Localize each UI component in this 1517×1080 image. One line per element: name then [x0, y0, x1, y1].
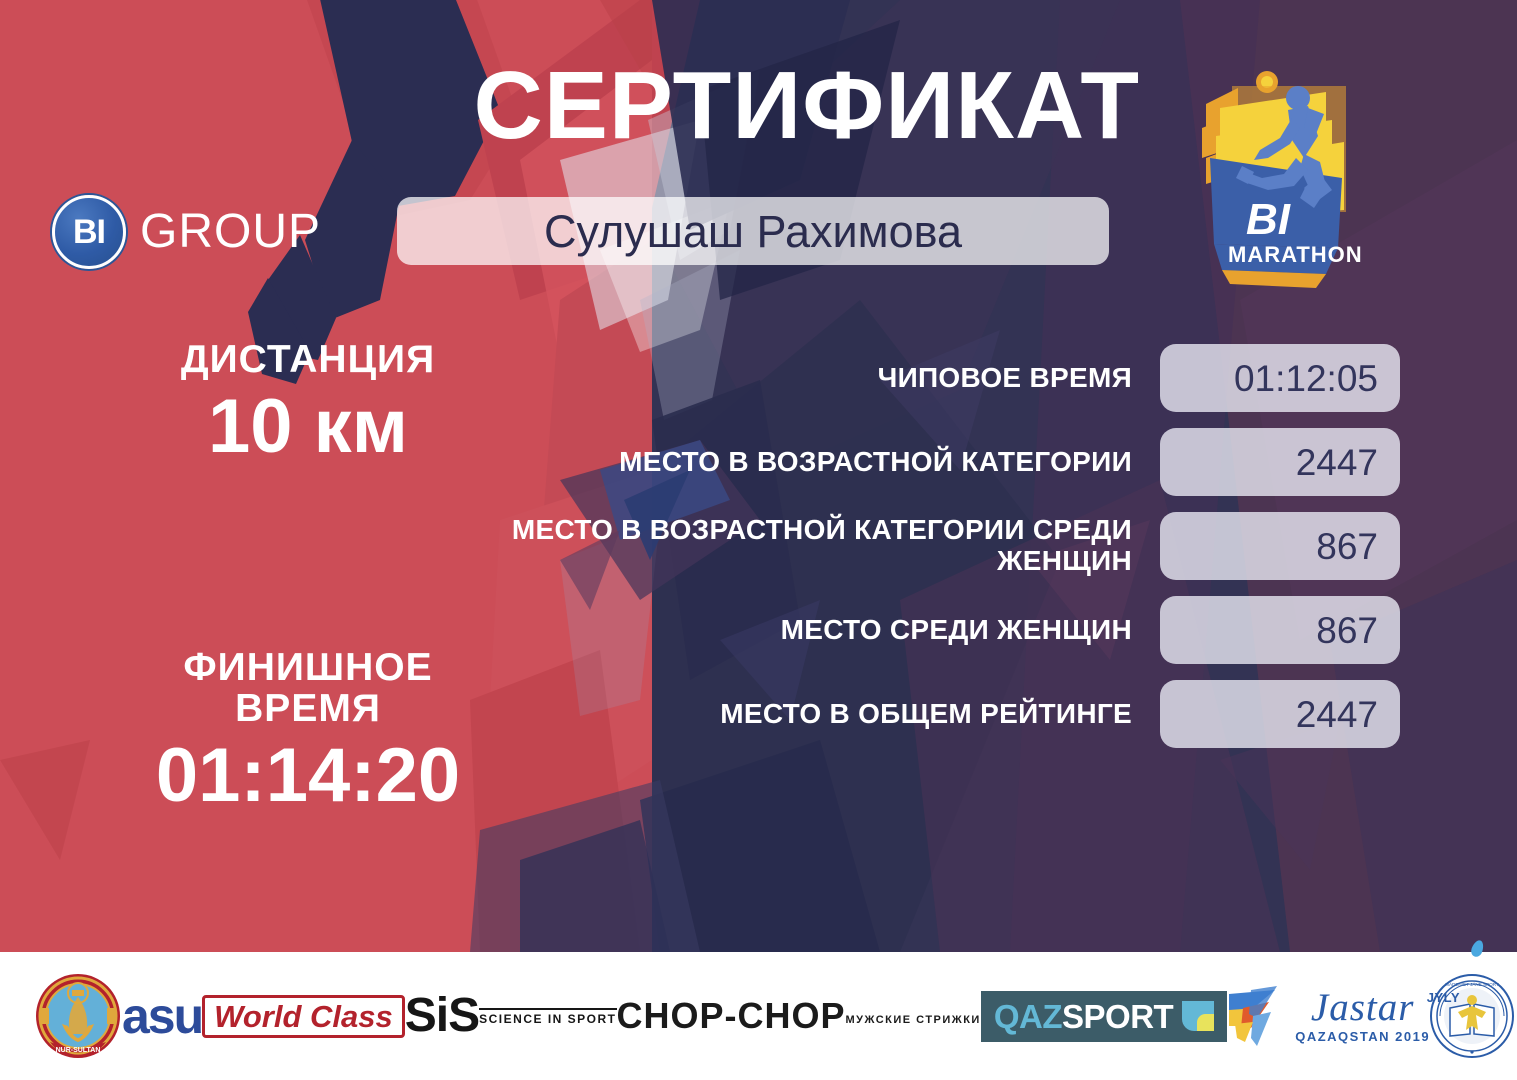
sponsor-sis: SiS SCIENCE IN SPORT [405, 994, 617, 1037]
participant-name: Сулушаш Рахимова [544, 209, 962, 254]
marathon-logo-marathon-text: MARATHON [1228, 242, 1363, 267]
finish-time-label-line1: ФИНИШНОЕ [48, 648, 568, 689]
stat-row: ЧИПОВОЕ ВРЕМЯ 01:12:05 [500, 344, 1400, 412]
stat-value-badge: 2447 [1160, 428, 1400, 496]
stat-row: МЕСТО В ОБЩЕМ РЕЙТИНГЕ 2447 [500, 680, 1400, 748]
distance-block: ДИСТАНЦИЯ 10 км [48, 340, 568, 469]
jastar-text-block: Jastar JYLY QAZAQSTAN 2019 [1295, 988, 1430, 1044]
stat-value: 2447 [1296, 444, 1378, 481]
chop-chop-wordmark: CHOP-CHOP [617, 998, 846, 1034]
stat-row: МЕСТО В ВОЗРАСТНОЙ КАТЕГОРИИ СРЕДИ ЖЕНЩИ… [500, 512, 1400, 580]
sis-wordmark: SiS [405, 994, 479, 1037]
sponsor-chop-chop: CHOP-CHOP МУЖСКИЕ СТРИЖКИ [617, 998, 981, 1034]
nur-sultan-label: NUR-SULTAN [56, 1047, 101, 1054]
sponsor-qazsport: QAZSPORT [981, 991, 1227, 1042]
finish-time-label-line2: ВРЕМЯ [48, 689, 568, 730]
bi-marathon-logo: BI MARATHON [1176, 62, 1376, 302]
stat-row: МЕСТО В ВОЗРАСТНОЙ КАТЕГОРИИ 2447 [500, 428, 1400, 496]
stat-value-badge: 867 [1160, 596, 1400, 664]
jastar-jyly-text: JYLY [1427, 990, 1460, 1005]
page-title: СЕРТИФИКАТ [0, 58, 1140, 154]
stat-label: МЕСТО В ВОЗРАСТНОЙ КАТЕГОРИИ СРЕДИ ЖЕНЩИ… [500, 515, 1160, 577]
bi-group-wordmark: GROUP [140, 208, 321, 256]
ministry-emblem-label: MÁDENIET JÁNE SPORT [1445, 981, 1499, 987]
qazsport-mark-icon [1182, 1001, 1214, 1031]
sis-tagline: SCIENCE IN SPORT [479, 1008, 616, 1026]
jastar-wordmark: Jastar [1295, 988, 1430, 1027]
stat-value: 867 [1316, 528, 1378, 565]
qazsport-qaz: QAZ [994, 998, 1062, 1035]
distance-label: ДИСТАНЦИЯ [48, 340, 568, 381]
sponsor-strip: NUR-SULTAN asu World Class SiS SCIENCE I… [0, 952, 1517, 1080]
finish-time-block: ФИНИШНОЕ ВРЕМЯ 01:14:20 [48, 648, 568, 817]
finish-time-value: 01:14:20 [48, 734, 568, 818]
stats-list: ЧИПОВОЕ ВРЕМЯ 01:12:05 МЕСТО В ВОЗРАСТНО… [500, 344, 1400, 764]
stat-value-badge: 01:12:05 [1160, 344, 1400, 412]
marathon-logo-bi-text: BI [1246, 195, 1291, 244]
chop-chop-tagline: МУЖСКИЕ СТРИЖКИ [846, 1014, 981, 1026]
jastar-arrow-icon [1227, 984, 1289, 1048]
sponsor-nur-sultan-emblem: NUR-SULTAN [34, 972, 122, 1060]
stat-value: 2447 [1296, 696, 1378, 733]
bi-group-logo: BI GROUP [52, 195, 321, 269]
stat-row: МЕСТО СРЕДИ ЖЕНЩИН 867 [500, 596, 1400, 664]
sponsor-jastar: Jastar JYLY QAZAQSTAN 2019 [1227, 984, 1430, 1048]
certificate-page: СЕРТИФИКАТ BI GROUP Сулушаш Рахимова [0, 0, 1517, 1080]
sponsor-asu: asu [122, 991, 202, 1041]
stat-value-badge: 867 [1160, 512, 1400, 580]
stat-value: 867 [1316, 612, 1378, 649]
stat-value: 01:12:05 [1234, 360, 1378, 397]
distance-value: 10 км [48, 385, 568, 469]
world-class-wordmark: World Class [214, 1001, 393, 1032]
qazsport-sport: SPORT [1062, 998, 1173, 1035]
stat-label: ЧИПОВОЕ ВРЕМЯ [878, 363, 1160, 394]
jastar-tagline: QAZAQSTAN 2019 [1295, 1029, 1430, 1044]
asu-wordmark: asu [122, 991, 202, 1041]
stat-value-badge: 2447 [1160, 680, 1400, 748]
sponsor-world-class: World Class [202, 995, 405, 1038]
participant-name-badge: Сулушаш Рахимова [397, 197, 1109, 265]
stat-label: МЕСТО В ВОЗРАСТНОЙ КАТЕГОРИИ [619, 447, 1160, 478]
sponsor-ministry-emblem: MÁDENIET JÁNE SPORT [1430, 974, 1514, 1058]
stat-label: МЕСТО СРЕДИ ЖЕНЩИН [781, 615, 1160, 646]
bi-mark-text: BI [73, 215, 105, 249]
qazsport-wordmark: QAZSPORT [994, 1000, 1173, 1033]
bi-circle-icon: BI [52, 195, 126, 269]
stat-label: МЕСТО В ОБЩЕМ РЕЙТИНГЕ [720, 699, 1160, 730]
